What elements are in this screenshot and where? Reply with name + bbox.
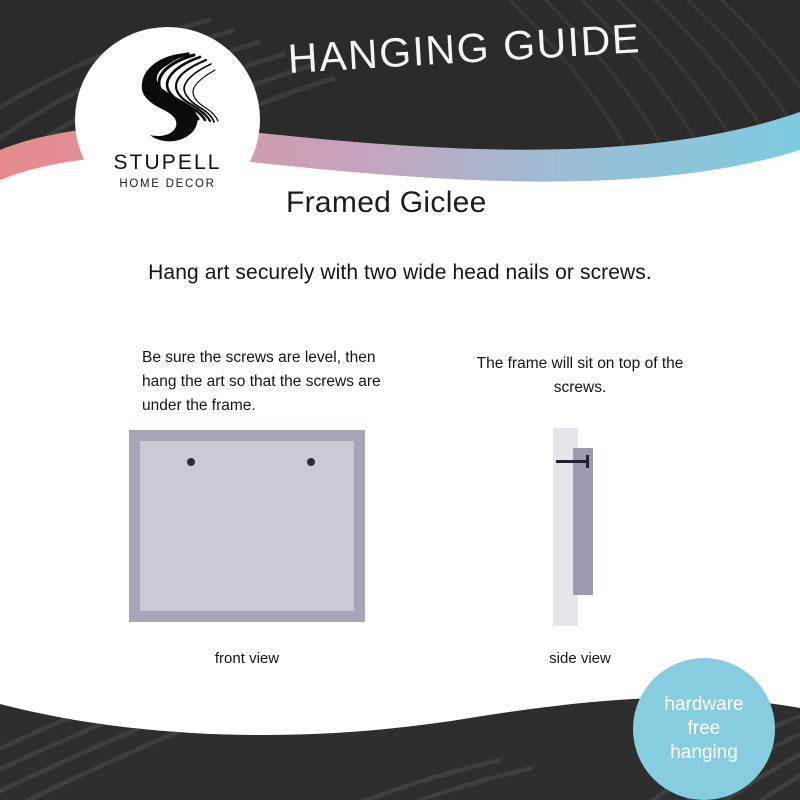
lead-instruction: Hang art securely with two wide head nai…: [0, 261, 800, 285]
brand-name: STUPELL: [113, 151, 221, 175]
screw-dot-right-icon: [307, 458, 315, 466]
stupell-swoosh-logo-icon: [116, 49, 220, 145]
hanging-guide-page: HANGING GUIDE STUPELL HOME DECOR Framed …: [0, 0, 800, 800]
side-view-caption: The frame will sit on top of the screws.: [470, 352, 690, 400]
brand-logo-badge: STUPELL HOME DECOR: [75, 27, 260, 212]
front-view-caption: Be sure the screws are level, then hang …: [142, 346, 392, 418]
badge-line-3: hanging: [670, 741, 738, 765]
screw-shaft-icon: [556, 460, 588, 463]
screw-head-icon: [586, 455, 589, 468]
badge-line-2: free: [688, 717, 721, 741]
frame-side-profile: [573, 448, 593, 595]
badge-line-1: hardware: [664, 693, 743, 717]
product-title: Framed Giclee: [286, 186, 487, 220]
brand-tagline: HOME DECOR: [119, 178, 215, 190]
hardware-free-hanging-badge: hardware free hanging: [633, 658, 775, 800]
screw-dot-left-icon: [187, 458, 195, 466]
frame-artwork-area: [140, 441, 354, 611]
side-view-diagram: [540, 428, 620, 628]
front-view-diagram: [129, 430, 365, 622]
